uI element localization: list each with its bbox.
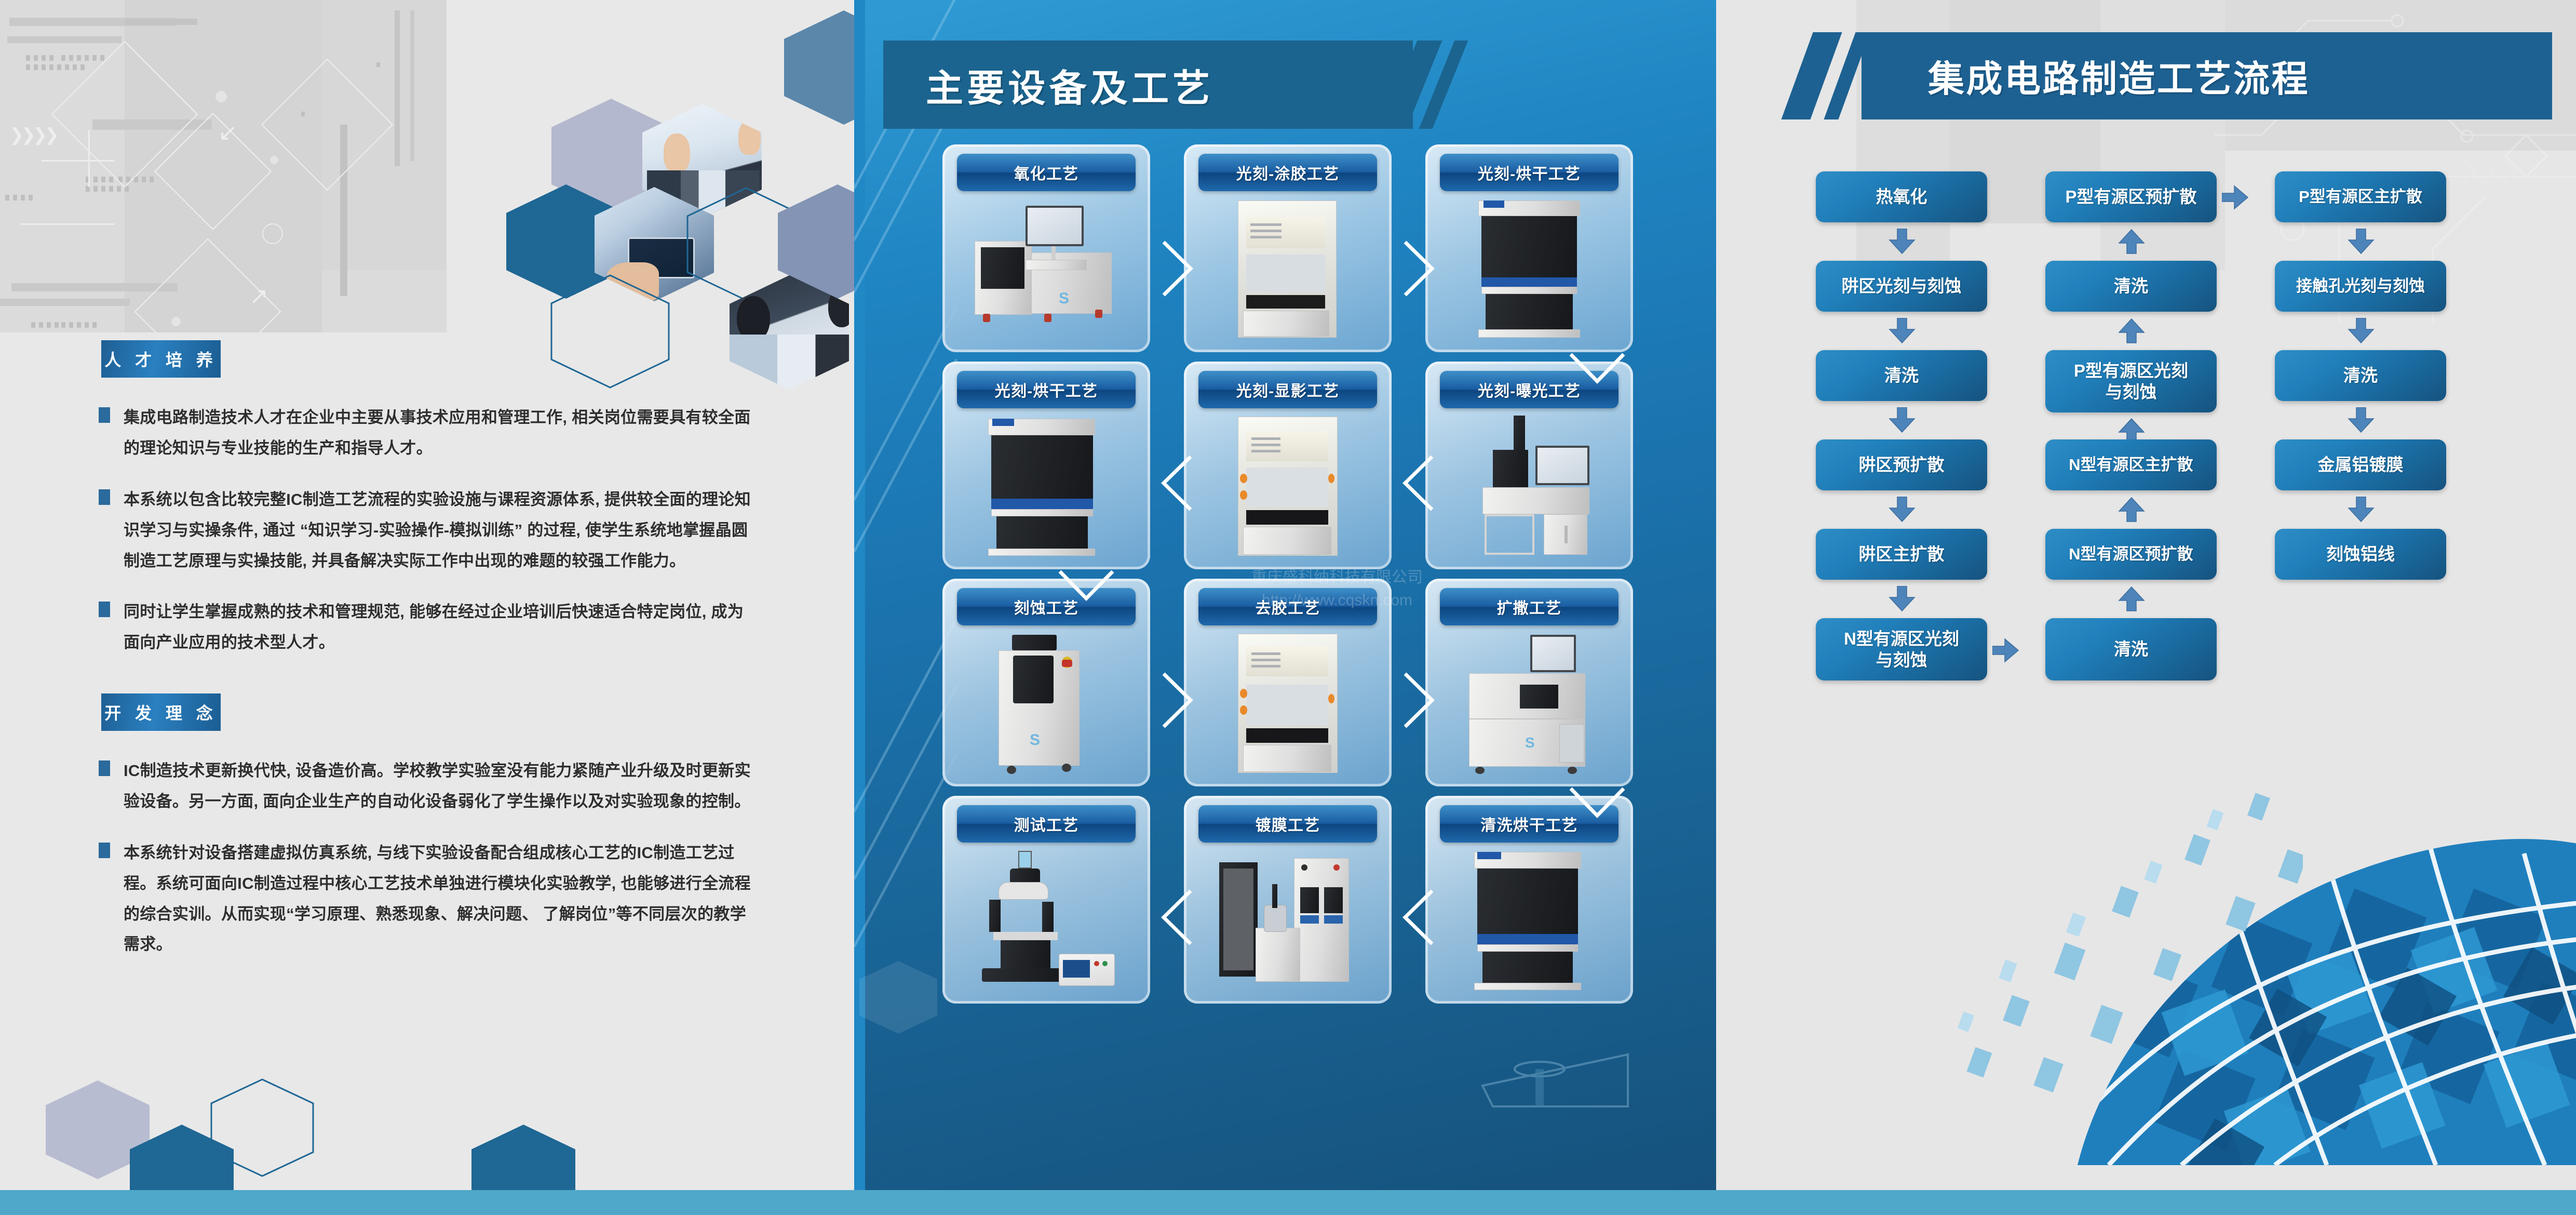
flow-arrow-left-icon: [1398, 452, 1440, 514]
flow-arrow-down-icon: [1056, 564, 1117, 607]
flow-box[interactable]: 刻蚀铝线: [2275, 529, 2446, 580]
flow-arrow-left-icon: [1156, 887, 1199, 948]
equipment-card[interactable]: 扩撒工艺 S: [1425, 579, 1633, 786]
title-slash-decor: [1795, 32, 1878, 119]
machine-oxidation-illustration: S: [964, 198, 1128, 340]
bullet-text: 同时让学生掌握成熟的技术和管理规范, 能够在经过企业培训后快速适合特定岗位, 成…: [124, 597, 758, 658]
bullet-square-icon: [99, 760, 110, 776]
flow-box[interactable]: 清洗: [2045, 618, 2217, 680]
bullet-square-icon: [99, 602, 110, 617]
flow-arrow-up-icon: [2118, 229, 2145, 257]
equipment-card[interactable]: 测试工艺: [942, 796, 1150, 1004]
section-tag-concept: 开 发 理 念: [101, 693, 221, 731]
bullet-square-icon: [99, 489, 110, 505]
flow-box[interactable]: P型有源区预扩散: [2045, 171, 2217, 222]
list-item: 本系统针对设备搭建虚拟仿真系统, 与线下实验设备配合组成核心工艺的IC制造工艺过…: [99, 838, 758, 960]
machine-etcher-illustration: S: [964, 633, 1128, 774]
equipment-card-label: 光刻-显影工艺: [1198, 371, 1377, 408]
equipment-card[interactable]: 镀膜工艺: [1184, 796, 1392, 1004]
flow-arrow-up-icon: [2118, 586, 2145, 615]
machine-diffusion-illustration: S: [1447, 633, 1611, 774]
flow-arrow-up-icon: [2118, 497, 2145, 525]
left-panel: ❯❯❯❯ ❯❯❯❯❯ ↙ ↗: [0, 0, 854, 1190]
section-tag-concept-label: 开 发 理 念: [104, 700, 217, 724]
machine-clean-dry-illustration: [1447, 850, 1611, 991]
middle-panel: 主要设备及工艺 氧化工艺: [854, 0, 1716, 1190]
bullet-text: IC制造技术更新换代快, 设备造价高。学校教学实验室没有能力紧随产业升级及时更新…: [124, 756, 758, 817]
equipment-card-label: 光刻-涂胶工艺: [1198, 154, 1377, 191]
flow-box[interactable]: 阱区预扩散: [1816, 439, 1987, 490]
equipment-card-label: 镀膜工艺: [1198, 805, 1377, 843]
machine-probe-station-illustration: [964, 850, 1128, 991]
flow-arrow-down-icon: [2348, 407, 2375, 436]
equipment-card[interactable]: 去胶工艺: [1184, 579, 1392, 786]
equipment-card[interactable]: 光刻-显影工艺: [1184, 362, 1392, 569]
equipment-card[interactable]: 光刻-烘干工艺: [1425, 144, 1633, 352]
equipment-row: 测试工艺: [942, 796, 1633, 1004]
bullet-square-icon: [99, 843, 110, 858]
flow-arrow-down-icon: [2348, 318, 2375, 346]
flow-arrow-down-icon: [1889, 318, 1916, 346]
flow-arrow-right-icon: [1398, 238, 1440, 299]
equipment-card[interactable]: 刻蚀工艺 S: [942, 579, 1150, 786]
flow-box[interactable]: N型有源区光刻 与刻蚀: [1816, 618, 1987, 680]
flow-arrow-down-icon: [1567, 781, 1628, 824]
right-panel: 集成电路制造工艺流程 热氧化 阱区光刻与刻蚀 清洗 阱区预扩散 阱区主扩散: [1716, 0, 2576, 1190]
machine-strip-hood-illustration: [1206, 633, 1370, 774]
flow-box[interactable]: 清洗: [2045, 261, 2217, 312]
flow-box[interactable]: N型有源区主扩散: [2045, 439, 2217, 490]
equipment-row: 刻蚀工艺 S 去胶工艺: [942, 579, 1633, 786]
hexagon-solid-steel: [784, 10, 854, 125]
flow-arrow-left-icon: [1156, 452, 1199, 514]
flow-arrow-down-icon: [1889, 586, 1916, 615]
flow-arrow-down-icon: [1567, 347, 1628, 390]
flow-box[interactable]: 清洗: [2275, 350, 2446, 401]
flow-arrow-down-icon: [1889, 497, 1916, 525]
equipment-card-label: 光刻-烘干工艺: [957, 371, 1136, 408]
equipment-row: 光刻-烘干工艺 光刻-显影工艺: [942, 362, 1633, 569]
flow-arrow-right-icon: [1992, 638, 2019, 665]
machine-bake-oven-illustration: [1447, 198, 1611, 340]
bullet-text: 集成电路制造技术人才在企业中主要从事技术应用和管理工作, 相关岗位需要具有较全面…: [124, 403, 758, 464]
list-item: 集成电路制造技术人才在企业中主要从事技术应用和管理工作, 相关岗位需要具有较全面…: [99, 403, 758, 464]
flow-arrow-down-icon: [1889, 407, 1916, 436]
flow-box[interactable]: P型有源区光刻 与刻蚀: [2045, 350, 2217, 412]
bullet-list-talent: 集成电路制造技术人才在企业中主要从事技术应用和管理工作, 相关岗位需要具有较全面…: [99, 403, 758, 679]
machine-coating-hood-illustration: [1206, 198, 1370, 340]
equipment-card-label: 氧化工艺: [957, 154, 1136, 191]
bullet-list-concept: IC制造技术更新换代快, 设备造价高。学校教学实验室没有能力紧随产业升级及时更新…: [99, 756, 758, 981]
title-slash-decor: [1394, 41, 1488, 129]
flow-box[interactable]: 接触孔光刻与刻蚀: [2275, 261, 2446, 312]
machine-coater-illustration: [1206, 850, 1370, 991]
flow-arrow-right-icon: [1398, 670, 1440, 731]
machine-bake-oven-illustration: [964, 416, 1128, 557]
list-item: 同时让学生掌握成熟的技术和管理规范, 能够在经过企业培训后快速适合特定岗位, 成…: [99, 597, 758, 658]
section-tag-talent-label: 人 才 培 养: [104, 347, 217, 371]
hexagon-bottom-outline: [210, 1078, 314, 1177]
flow-box[interactable]: 阱区主扩散: [1816, 529, 1987, 580]
flow-arrow-right-icon: [1156, 238, 1199, 299]
flow-box[interactable]: 金属铝镀膜: [2275, 439, 2446, 490]
equipment-card-label: 光刻-烘干工艺: [1440, 154, 1619, 191]
equipment-card[interactable]: 氧化工艺 S: [942, 144, 1150, 352]
poster-canvas: ❯❯❯❯ ❯❯❯❯❯ ↙ ↗: [0, 0, 2576, 1215]
flow-arrow-right-icon: [2222, 185, 2249, 212]
equipment-grid: 氧化工艺 S 光刻-涂胶工艺: [942, 144, 1633, 1013]
flow-arrow-down-icon: [1889, 229, 1916, 257]
flow-arrow-left-icon: [1398, 887, 1440, 948]
flow-box[interactable]: N型有源区预扩散: [2045, 529, 2217, 580]
equipment-card[interactable]: 光刻-曝光工艺: [1425, 362, 1633, 569]
bullet-text: 本系统针对设备搭建虚拟仿真系统, 与线下实验设备配合组成核心工艺的IC制造工艺过…: [124, 838, 758, 960]
equipment-card[interactable]: 清洗烘干工艺: [1425, 796, 1633, 1004]
equipment-row: 氧化工艺 S 光刻-涂胶工艺: [942, 144, 1633, 352]
equipment-card-label: 扩撒工艺: [1440, 588, 1619, 625]
machine-develop-hood-illustration: [1206, 416, 1370, 557]
equipment-card-label: 去胶工艺: [1198, 588, 1377, 625]
flow-arrow-up-icon: [2118, 318, 2145, 346]
flow-box[interactable]: 阱区光刻与刻蚀: [1816, 261, 1987, 312]
middle-panel-title-text: 主要设备及工艺: [926, 58, 1213, 112]
machine-exposure-illustration: [1447, 416, 1611, 557]
hexagon-bottom-right: [471, 1125, 575, 1190]
equipment-card[interactable]: 光刻-烘干工艺: [942, 362, 1150, 569]
process-flowchart: 热氧化 阱区光刻与刻蚀 清洗 阱区预扩散 阱区主扩散 N型有源区光刻 与刻蚀: [1727, 171, 2568, 1003]
equipment-card[interactable]: 光刻-涂胶工艺: [1184, 144, 1392, 352]
flow-box[interactable]: 热氧化: [1816, 171, 1987, 222]
list-item: 本系统以包含比较完整IC制造工艺流程的实验设施与课程资源体系, 提供较全面的理论…: [99, 485, 758, 577]
list-item: IC制造技术更新换代快, 设备造价高。学校教学实验室没有能力紧随产业升级及时更新…: [99, 756, 758, 817]
flow-arrow-down-icon: [2348, 229, 2375, 257]
section-tag-talent: 人 才 培 养: [101, 340, 221, 378]
flow-box[interactable]: 清洗: [1816, 350, 1987, 401]
right-panel-title: 集成电路制造工艺流程: [1862, 32, 2552, 119]
flow-box[interactable]: P型有源区主扩散: [2275, 171, 2446, 222]
bottom-accent-strip: [0, 1190, 2576, 1215]
flow-arrow-down-icon: [2348, 497, 2375, 525]
bullet-text: 本系统以包含比较完整IC制造工艺流程的实验设施与课程资源体系, 提供较全面的理论…: [124, 485, 758, 577]
bullet-square-icon: [99, 407, 110, 423]
hexagon-outline-lower: [550, 274, 670, 389]
flow-arrow-right-icon: [1156, 670, 1199, 731]
middle-panel-title: 主要设备及工艺: [883, 41, 1413, 129]
right-panel-title-text: 集成电路制造工艺流程: [1928, 50, 2310, 102]
equipment-card-label: 测试工艺: [957, 805, 1136, 843]
